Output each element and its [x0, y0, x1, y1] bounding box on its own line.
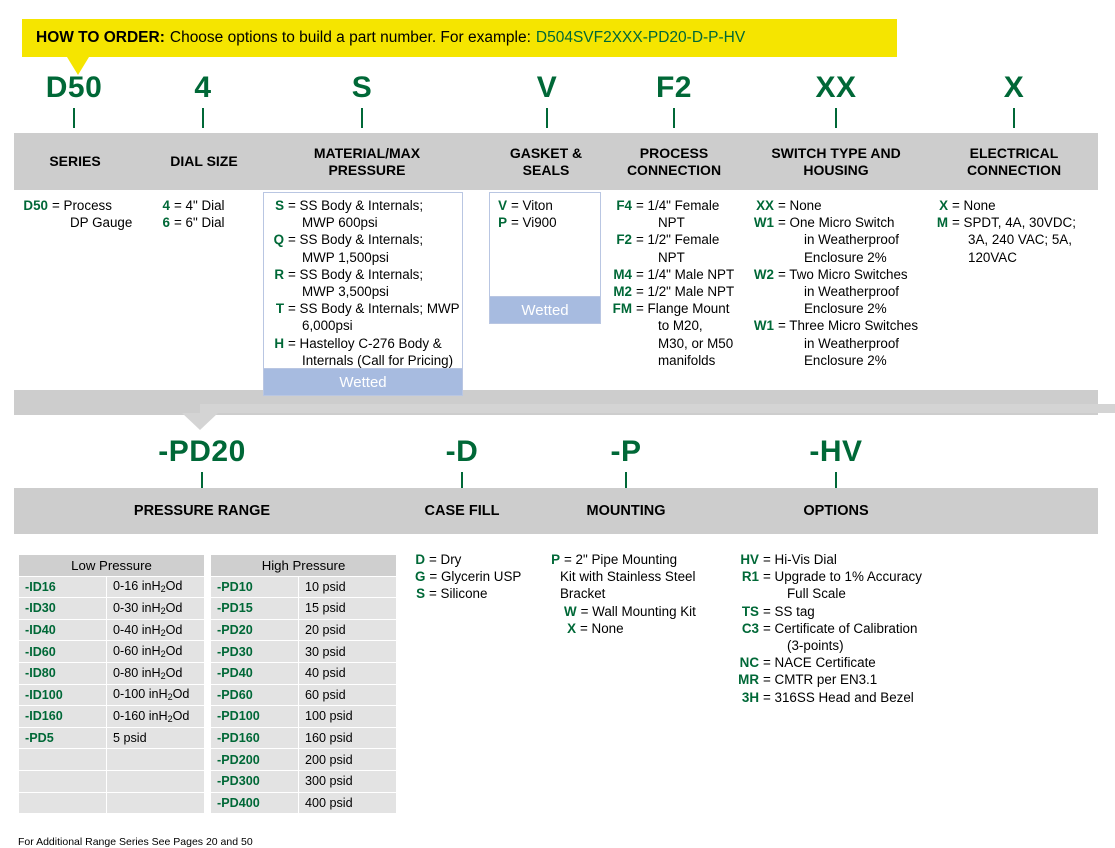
- code-segment-process-connection: F2: [618, 72, 730, 128]
- option-description: = NACE Certificate: [759, 654, 955, 671]
- arrow-stem: [200, 404, 1115, 413]
- option-entry: P= Vi900: [497, 214, 597, 231]
- option-description: = Vi900: [507, 214, 597, 231]
- option-description-continuation: manifolds: [636, 352, 738, 369]
- option-code: G: [415, 568, 425, 585]
- code-tick: [361, 108, 363, 128]
- option-description-continuation: in Weatherproof: [778, 231, 930, 248]
- option-description-continuation: Full Scale: [763, 585, 955, 602]
- table-row: -PD55 psid-PD160160 psid: [19, 727, 397, 749]
- high-pressure-value: 40 psid: [299, 662, 397, 684]
- option-description-continuation: M30, or M50: [636, 335, 738, 352]
- option-description: = 316SS Head and Bezel: [759, 689, 955, 706]
- option-description: = Upgrade to 1% AccuracyFull Scale: [759, 568, 955, 602]
- group-header-high-pressure: High Pressure: [211, 555, 397, 577]
- low-pressure-code: -ID40: [19, 619, 107, 641]
- code-tick: [1013, 108, 1015, 128]
- option-description-continuation: (3-points): [763, 637, 955, 654]
- gasket-wetted-label: Wetted: [489, 297, 601, 324]
- column-header-material-max-pressure: MATERIAL/MAX PRESSURE: [268, 133, 466, 190]
- low-pressure-code: [19, 749, 107, 771]
- option-entry: HV= Hi-Vis Dial: [735, 551, 955, 568]
- column-header-dial-size: DIAL SIZE: [145, 133, 263, 190]
- option-entry: M= SPDT, 4A, 30VDC;3A, 240 VAC; 5A,120VA…: [936, 214, 1096, 266]
- option-description: = Two Micro Switchesin WeatherproofEnclo…: [774, 266, 930, 318]
- high-pressure-code: -PD200: [211, 749, 299, 771]
- option-entry: NC= NACE Certificate: [735, 654, 955, 671]
- option-code: H: [272, 335, 284, 352]
- column-header-pressure-range: PRESSURE RANGE: [20, 488, 384, 534]
- code-segment-switch-type: XX: [780, 72, 892, 128]
- option-code: R1: [735, 568, 759, 585]
- option-code: MR: [735, 671, 759, 688]
- option-code: W2: [750, 266, 774, 283]
- option-description-continuation: MWP 3,500psi: [288, 283, 462, 300]
- option-entry: P= 2" Pipe MountingKit with Stainless St…: [548, 551, 726, 603]
- option-description: = 1/4" FemaleNPT: [632, 197, 738, 231]
- option-code: HV: [735, 551, 759, 568]
- high-pressure-value: 30 psid: [299, 641, 397, 663]
- option-description-continuation: NPT: [636, 249, 738, 266]
- option-code: D50: [18, 197, 48, 214]
- code-tick: [202, 108, 204, 128]
- column-header-mounting: MOUNTING: [570, 488, 682, 534]
- option-entry: G= Glycerin USP: [415, 568, 555, 585]
- option-entry: T= SS Body & Internals; MWP6,000psi: [272, 300, 462, 334]
- example-part-number: D504SVF2XXX-PD20-D-P-HV: [536, 29, 745, 47]
- option-description-continuation: DP Gauge: [52, 214, 146, 231]
- options-list-process-connection: F4= 1/4" FemaleNPTF2= 1/2" FemaleNPTM4= …: [610, 197, 738, 369]
- option-code: P: [548, 551, 560, 568]
- part-number-segments-row-2: -PD20 -D -P -HV: [0, 436, 1115, 494]
- high-pressure-value: 60 psid: [299, 684, 397, 706]
- code-segment-pressure-range: -PD20: [140, 436, 264, 492]
- high-pressure-code: -PD20: [211, 619, 299, 641]
- high-pressure-value: 160 psid: [299, 727, 397, 749]
- option-entry: D= Dry: [415, 551, 555, 568]
- option-code: M4: [610, 266, 632, 283]
- option-entry: XX= None: [750, 197, 930, 214]
- option-description: = 1/2" Male NPT: [632, 283, 738, 300]
- option-code: R: [272, 266, 284, 283]
- banner-instruction-text: Choose options to build a part number. F…: [170, 29, 531, 47]
- option-entry: F2= 1/2" FemaleNPT: [610, 231, 738, 265]
- option-code: M2: [610, 283, 632, 300]
- option-entry: C3= Certificate of Calibration(3-points): [735, 620, 955, 654]
- high-pressure-value: 100 psid: [299, 706, 397, 728]
- code-tick: [546, 108, 548, 128]
- table-row: -PD300300 psid: [19, 770, 397, 792]
- option-code: X: [564, 620, 576, 637]
- high-pressure-code: -PD40: [211, 662, 299, 684]
- high-pressure-value: 300 psid: [299, 770, 397, 792]
- option-entry: H= Hastelloy C-276 Body &Internals (Call…: [272, 335, 462, 369]
- option-code: W1: [750, 214, 774, 231]
- low-pressure-value: 0-30 inH2Od: [107, 598, 205, 620]
- low-pressure-value: [107, 792, 205, 814]
- option-code: D: [415, 551, 425, 568]
- option-entry: M2= 1/2" Male NPT: [610, 283, 738, 300]
- option-code: S: [272, 197, 284, 214]
- option-description: = Three Micro Switchesin WeatherproofEnc…: [774, 317, 930, 369]
- option-description-continuation: MWP 600psi: [288, 214, 462, 231]
- option-description: = Silicone: [425, 585, 555, 602]
- option-description: = Hi-Vis Dial: [759, 551, 955, 568]
- option-description-continuation: to M20,: [636, 317, 738, 334]
- code-segment-dial-size: 4: [148, 72, 258, 128]
- table-row: -ID400-40 inH2Od-PD2020 psid: [19, 619, 397, 641]
- option-code: 4: [160, 197, 170, 214]
- code-segment-options: -HV: [780, 436, 892, 492]
- table-row: -PD400400 psid: [19, 792, 397, 814]
- option-code: F4: [610, 197, 632, 214]
- code-tick: [835, 108, 837, 128]
- low-pressure-value: [107, 749, 205, 771]
- option-entry: V= Viton: [497, 197, 597, 214]
- low-pressure-code: -ID160: [19, 706, 107, 728]
- code-segment-mounting: -P: [570, 436, 682, 492]
- part-number-segments-row-1: D50 4 S V F2 XX X: [0, 72, 1115, 134]
- low-pressure-code: -ID60: [19, 641, 107, 663]
- options-list-dial-size: 4= 4" Dial6= 6" Dial: [160, 197, 260, 231]
- option-description-continuation: 120VAC: [952, 249, 1096, 266]
- option-description-continuation: in Weatherproof: [778, 335, 930, 352]
- option-description-continuation: NPT: [636, 214, 738, 231]
- option-description: = Viton: [507, 197, 597, 214]
- option-entry: X= None: [936, 197, 1096, 214]
- option-description: = 1/4" Male NPT: [632, 266, 738, 283]
- low-pressure-code: -ID30: [19, 598, 107, 620]
- high-pressure-code: -PD30: [211, 641, 299, 663]
- option-entry: FM= Flange Mountto M20,M30, or M50manifo…: [610, 300, 738, 369]
- table-row: -ID1000-100 inH2Od-PD6060 psid: [19, 684, 397, 706]
- option-description: = Dry: [425, 551, 555, 568]
- option-entry: D50= ProcessDP Gauge: [18, 197, 146, 231]
- option-description-continuation: Internals (Call for Pricing): [288, 352, 462, 369]
- high-pressure-code: -PD160: [211, 727, 299, 749]
- low-pressure-code: [19, 770, 107, 792]
- option-entry: X= None: [548, 620, 726, 637]
- option-description: = SS Body & Internals;MWP 3,500psi: [284, 266, 462, 300]
- option-entry: R1= Upgrade to 1% AccuracyFull Scale: [735, 568, 955, 602]
- option-entry: W= Wall Mounting Kit: [548, 603, 726, 620]
- table-row: -ID800-80 inH2Od-PD4040 psid: [19, 662, 397, 684]
- code-tick: [673, 108, 675, 128]
- high-pressure-code: -PD60: [211, 684, 299, 706]
- column-header-options: OPTIONS: [780, 488, 892, 534]
- table-row: -ID600-60 inH2Od-PD3030 psid: [19, 641, 397, 663]
- table-row: -PD200200 psid: [19, 749, 397, 771]
- pressure-range-table-head: Low Pressure High Pressure: [19, 555, 397, 577]
- option-description: = Glycerin USP: [425, 568, 555, 585]
- column-header-series: SERIES: [18, 133, 132, 190]
- option-description: = 4" Dial: [170, 197, 260, 214]
- high-pressure-value: 15 psid: [299, 598, 397, 620]
- low-pressure-value: 0-100 inH2Od: [107, 684, 205, 706]
- high-pressure-code: -PD10: [211, 576, 299, 598]
- option-code: NC: [735, 654, 759, 671]
- high-pressure-value: 10 psid: [299, 576, 397, 598]
- banner-lead-label: HOW TO ORDER:: [36, 29, 165, 47]
- option-code: TS: [735, 603, 759, 620]
- column-header-gasket-seals: GASKET & SEALS: [492, 133, 600, 190]
- options-list-series: D50= ProcessDP Gauge: [18, 197, 146, 231]
- option-description: = SS Body & Internals;MWP 1,500psi: [284, 231, 462, 265]
- code-segment-electrical: X: [958, 72, 1070, 128]
- option-description: = 2" Pipe MountingKit with Stainless Ste…: [560, 551, 726, 603]
- option-entry: R= SS Body & Internals;MWP 3,500psi: [272, 266, 462, 300]
- option-entry: Q= SS Body & Internals;MWP 1,500psi: [272, 231, 462, 265]
- options-list-electrical: X= NoneM= SPDT, 4A, 30VDC;3A, 240 VAC; 5…: [936, 197, 1096, 266]
- option-entry: MR= CMTR per EN3.1: [735, 671, 955, 688]
- material-wetted-label: Wetted: [263, 369, 463, 396]
- code-tick: [73, 108, 75, 128]
- arrow-head-icon: [182, 413, 218, 430]
- high-pressure-value: 400 psid: [299, 792, 397, 814]
- option-code: V: [497, 197, 507, 214]
- option-description-continuation: MWP 1,500psi: [288, 249, 462, 266]
- low-pressure-value: 0-40 inH2Od: [107, 619, 205, 641]
- column-header-electrical-connection: ELECTRICAL CONNECTION: [934, 133, 1094, 190]
- table-row: -ID300-30 inH2Od-PD1515 psid: [19, 598, 397, 620]
- code-segment-gasket: V: [490, 72, 604, 128]
- option-description-continuation: in Weatherproof: [778, 283, 930, 300]
- option-entry: S= Silicone: [415, 585, 555, 602]
- pressure-range-table-body: -ID160-16 inH2Od-PD1010 psid-ID300-30 in…: [19, 576, 397, 814]
- option-description: = 6" Dial: [170, 214, 260, 231]
- high-pressure-code: -PD100: [211, 706, 299, 728]
- option-entry: M4= 1/4" Male NPT: [610, 266, 738, 283]
- option-entry: S= SS Body & Internals;MWP 600psi: [272, 197, 462, 231]
- option-description-continuation: 3A, 240 VAC; 5A,: [952, 231, 1096, 248]
- option-description: = SPDT, 4A, 30VDC;3A, 240 VAC; 5A,120VAC: [948, 214, 1096, 266]
- table-group-header-row: Low Pressure High Pressure: [19, 555, 397, 577]
- option-description: = 1/2" FemaleNPT: [632, 231, 738, 265]
- option-code: FM: [610, 300, 632, 317]
- option-description: = Certificate of Calibration(3-points): [759, 620, 955, 654]
- option-code: W1: [750, 317, 774, 334]
- high-pressure-value: 20 psid: [299, 619, 397, 641]
- low-pressure-value: 0-60 inH2Od: [107, 641, 205, 663]
- option-code: W: [564, 603, 577, 620]
- option-description-continuation: Bracket: [548, 585, 726, 602]
- option-description-continuation: 6,000psi: [288, 317, 462, 334]
- option-description: = CMTR per EN3.1: [759, 671, 955, 688]
- option-description: = ProcessDP Gauge: [48, 197, 146, 231]
- option-description: = None: [948, 197, 1096, 214]
- option-entry: F4= 1/4" FemaleNPT: [610, 197, 738, 231]
- option-code: XX: [750, 197, 774, 214]
- code-segment-material: S: [300, 72, 424, 128]
- option-description: = None: [774, 197, 930, 214]
- table-row: -ID160-16 inH2Od-PD1010 psid: [19, 576, 397, 598]
- option-description: = One Micro Switchin WeatherproofEnclosu…: [774, 214, 930, 266]
- option-description: = Hastelloy C-276 Body &Internals (Call …: [284, 335, 462, 369]
- option-description: = None: [576, 620, 726, 637]
- option-description: = Flange Mountto M20,M30, or M50manifold…: [632, 300, 738, 369]
- options-list-switch-type: XX= NoneW1= One Micro Switchin Weatherpr…: [750, 197, 930, 369]
- option-code: C3: [735, 620, 759, 637]
- option-code: X: [936, 197, 948, 214]
- group-header-low-pressure: Low Pressure: [19, 555, 205, 577]
- footnote-text: For Additional Range Series See Pages 20…: [18, 836, 253, 848]
- option-code: S: [415, 585, 425, 602]
- how-to-order-banner: HOW TO ORDER: Choose options to build a …: [22, 19, 897, 57]
- options-list-mounting: P= 2" Pipe MountingKit with Stainless St…: [548, 551, 726, 637]
- low-pressure-value: 0-160 inH2Od: [107, 706, 205, 728]
- low-pressure-code: -PD5: [19, 727, 107, 749]
- code-segment-series: D50: [18, 72, 130, 128]
- option-description: = SS Body & Internals;MWP 600psi: [284, 197, 462, 231]
- high-pressure-code: -PD15: [211, 598, 299, 620]
- option-code: P: [497, 214, 507, 231]
- options-list-options: HV= Hi-Vis DialR1= Upgrade to 1% Accurac…: [735, 551, 955, 706]
- code-segment-case-fill: -D: [406, 436, 518, 492]
- options-list-case-fill: D= DryG= Glycerin USPS= Silicone: [415, 551, 555, 603]
- high-pressure-code: -PD300: [211, 770, 299, 792]
- low-pressure-code: [19, 792, 107, 814]
- option-entry: 4= 4" Dial: [160, 197, 260, 214]
- option-code: 6: [160, 214, 170, 231]
- order-chart-page: HOW TO ORDER: Choose options to build a …: [0, 0, 1115, 843]
- column-header-case-fill: CASE FILL: [406, 488, 518, 534]
- option-code: M: [936, 214, 948, 231]
- options-list-gasket: V= VitonP= Vi900: [497, 197, 597, 231]
- option-description-continuation: Kit with Stainless Steel: [548, 568, 726, 585]
- pressure-range-table: Low Pressure High Pressure -ID160-16 inH…: [18, 554, 397, 814]
- options-list-material: S= SS Body & Internals;MWP 600psiQ= SS B…: [272, 197, 462, 369]
- option-code: 3H: [735, 689, 759, 706]
- option-description-continuation: Enclosure 2%: [778, 300, 930, 317]
- option-entry: W1= Three Micro Switchesin WeatherproofE…: [750, 317, 930, 369]
- option-entry: TS= SS tag: [735, 603, 955, 620]
- column-header-switch-type-housing: SWITCH TYPE AND HOUSING: [748, 133, 924, 190]
- option-entry: W1= One Micro Switchin WeatherproofEnclo…: [750, 214, 930, 266]
- option-entry: 6= 6" Dial: [160, 214, 260, 231]
- low-pressure-value: 0-16 inH2Od: [107, 576, 205, 598]
- low-pressure-value: 5 psid: [107, 727, 205, 749]
- option-description: = SS tag: [759, 603, 955, 620]
- option-code: Q: [272, 231, 284, 248]
- high-pressure-value: 200 psid: [299, 749, 397, 771]
- option-entry: 3H= 316SS Head and Bezel: [735, 689, 955, 706]
- option-code: F2: [610, 231, 632, 248]
- high-pressure-code: -PD400: [211, 792, 299, 814]
- option-description-continuation: Enclosure 2%: [778, 352, 930, 369]
- low-pressure-code: -ID100: [19, 684, 107, 706]
- option-description: = SS Body & Internals; MWP6,000psi: [284, 300, 462, 334]
- option-entry: W2= Two Micro Switchesin WeatherproofEnc…: [750, 266, 930, 318]
- low-pressure-code: -ID80: [19, 662, 107, 684]
- low-pressure-code: -ID16: [19, 576, 107, 598]
- option-code: T: [272, 300, 284, 317]
- low-pressure-value: 0-80 inH2Od: [107, 662, 205, 684]
- low-pressure-value: [107, 770, 205, 792]
- table-row: -ID1600-160 inH2Od-PD100100 psid: [19, 706, 397, 728]
- option-description: = Wall Mounting Kit: [577, 603, 726, 620]
- column-header-process-connection: PROCESS CONNECTION: [608, 133, 740, 190]
- option-description-continuation: Enclosure 2%: [778, 249, 930, 266]
